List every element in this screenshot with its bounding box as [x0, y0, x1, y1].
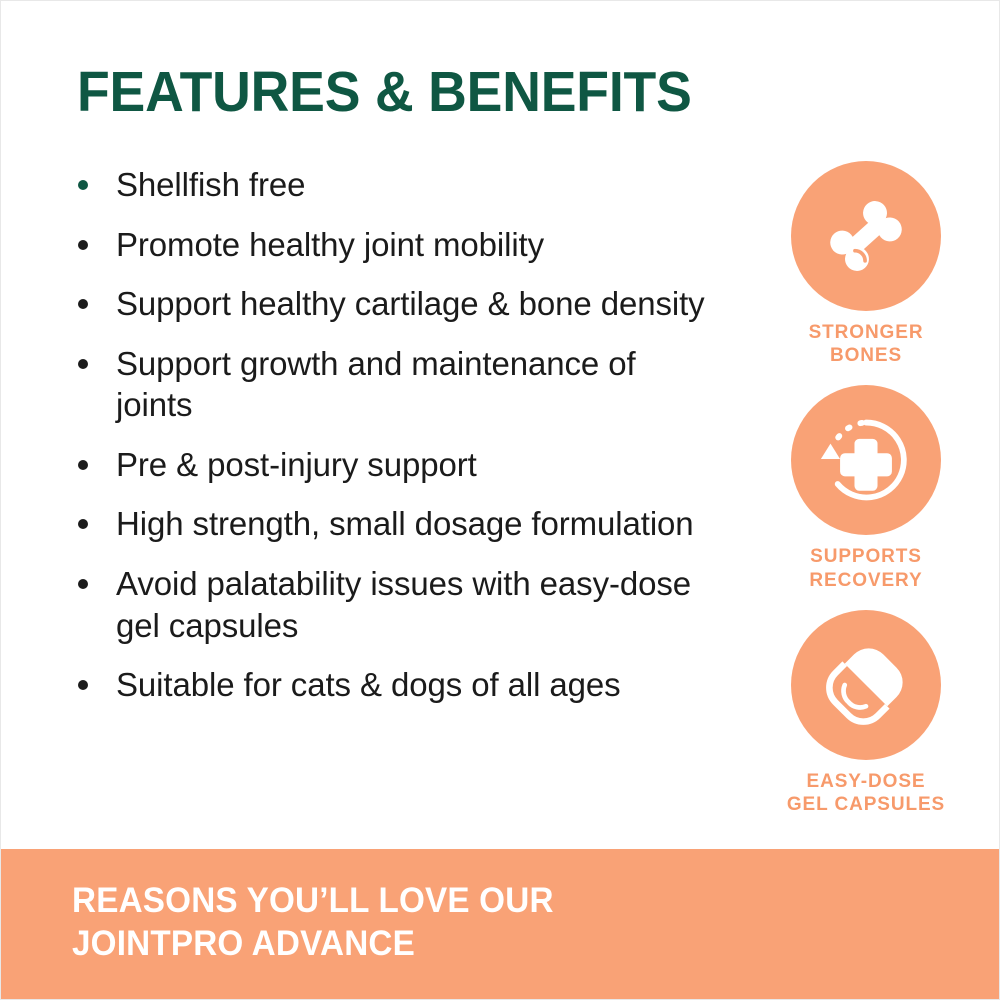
- banner-headline: REASONS YOU’LL LOVE OUR JOINTPRO ADVANCE: [72, 880, 554, 965]
- badge-easy-dose-gel-capsules: EASY-DOSE GEL CAPSULES: [761, 610, 971, 816]
- feature-item: Pre & post-injury support: [71, 444, 721, 486]
- feature-item: Support growth and maintenance of joints: [71, 343, 721, 426]
- page-title: FEATURES & BENEFITS: [77, 63, 692, 121]
- bullet-point-icon: [78, 180, 88, 190]
- feature-item: Shellfish free: [71, 164, 721, 206]
- recovery-cross-icon: [818, 412, 914, 508]
- feature-item-label: High strength, small dosage formulation: [116, 505, 694, 542]
- badge-supports-recovery: SUPPORTS RECOVERY: [761, 385, 971, 591]
- promo-graphic: FEATURES & BENEFITS Shellfish free Promo…: [0, 0, 1000, 1000]
- bullet-point-icon: [78, 680, 88, 690]
- bullet-point-icon: [78, 519, 88, 529]
- badge-label: STRONGER BONES: [761, 321, 971, 367]
- bullet-point-icon: [78, 359, 88, 369]
- feature-item: Suitable for cats & dogs of all ages: [71, 664, 721, 706]
- badge-circle: [791, 161, 941, 311]
- feature-item: Avoid palatability issues with easy-dose…: [71, 563, 721, 646]
- bottom-banner: REASONS YOU’LL LOVE OUR JOINTPRO ADVANCE: [1, 849, 999, 999]
- bullet-point-icon: [78, 240, 88, 250]
- capsule-icon: [819, 638, 913, 732]
- badge-label: EASY-DOSE GEL CAPSULES: [761, 770, 971, 816]
- feature-item-label: Support growth and maintenance of joints: [116, 345, 636, 424]
- feature-item-label: Avoid palatability issues with easy-dose…: [116, 565, 691, 644]
- badge-circle: [791, 385, 941, 535]
- feature-item: Promote healthy joint mobility: [71, 224, 721, 266]
- badge-label: SUPPORTS RECOVERY: [761, 545, 971, 591]
- feature-item-label: Suitable for cats & dogs of all ages: [116, 666, 621, 703]
- bullet-point-icon: [78, 460, 88, 470]
- bone-icon: [820, 190, 912, 282]
- feature-item-label: Pre & post-injury support: [116, 446, 477, 483]
- feature-item: High strength, small dosage formulation: [71, 503, 721, 545]
- badge-stronger-bones: STRONGER BONES: [761, 161, 971, 367]
- feature-item-label: Support healthy cartilage & bone density: [116, 285, 705, 322]
- features-list: Shellfish free Promote healthy joint mob…: [71, 164, 721, 706]
- feature-item-label: Shellfish free: [116, 166, 305, 203]
- feature-item-label: Promote healthy joint mobility: [116, 226, 544, 263]
- benefit-badges: STRONGER BONES SUPPORTS RECOVERY: [761, 161, 971, 816]
- bullet-point-icon: [78, 579, 88, 589]
- feature-item: Support healthy cartilage & bone density: [71, 283, 721, 325]
- badge-circle: [791, 610, 941, 760]
- bullet-point-icon: [78, 299, 88, 309]
